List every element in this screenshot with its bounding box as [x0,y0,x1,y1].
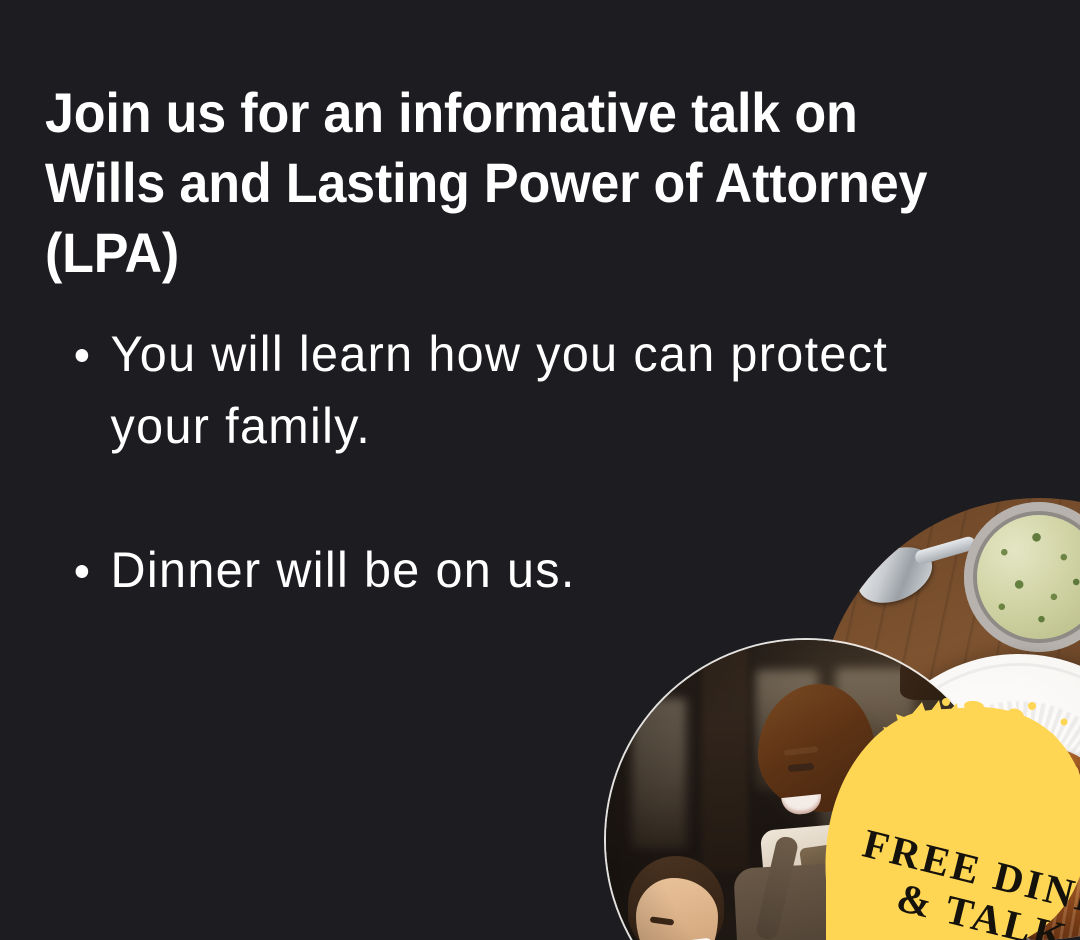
page-title: Join us for an informative talk on Wills… [45,78,975,288]
paint-splatter-shape [826,698,1080,940]
bullet-dot-icon [76,565,89,578]
free-dinner-talk-badge: FREE DINNER & TALK [826,700,1080,940]
list-item-label: You will learn how you can protect your … [111,326,889,454]
list-item-label: Dinner will be on us. [111,542,576,598]
bullet-dot-icon [76,349,89,362]
list-item: Dinner will be on us. [62,534,896,606]
event-promo-slide: Join us for an informative talk on Wills… [0,0,1080,940]
benefits-list: You will learn how you can protect your … [62,318,922,606]
list-item: You will learn how you can protect your … [62,318,896,462]
